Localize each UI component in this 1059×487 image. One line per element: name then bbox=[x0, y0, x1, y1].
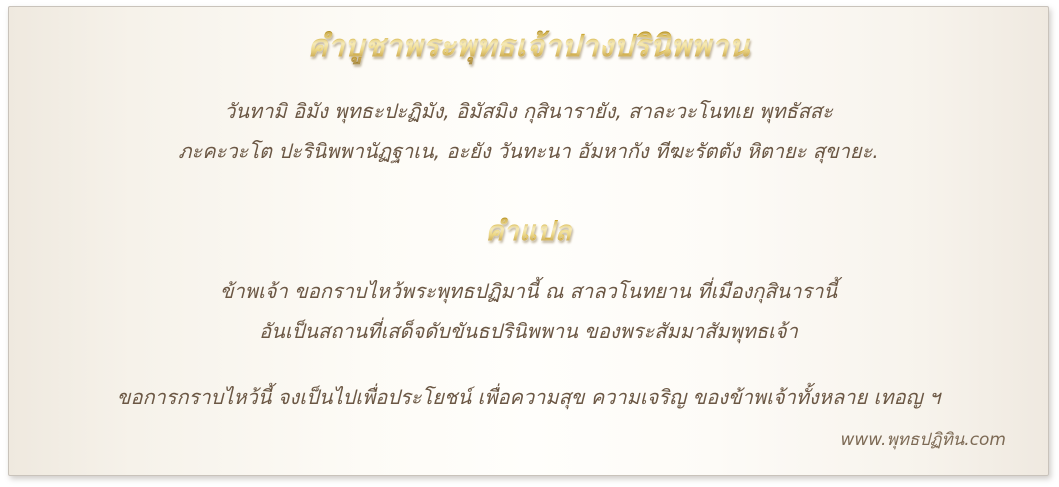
section-title-translation: คำแปล bbox=[9, 213, 1048, 251]
chant-line: วันทามิ อิมัง พุทธะปะฏิมัง, อิมัสมิง กุส… bbox=[9, 96, 1048, 126]
chant-line: ภะคะวะโต ปะรินิพพานัฏฐาเน, อะยัง วันทะนา… bbox=[9, 136, 1048, 166]
page-title: คำบูชาพระพุทธเจ้าปางปรินิพพาน bbox=[9, 27, 1048, 67]
footer-website: www.พุทธปฏิทิน.com bbox=[840, 429, 1006, 451]
prayer-card: คำบูชาพระพุทธเจ้าปางปรินิพพาน วันทามิ อิ… bbox=[8, 6, 1049, 476]
translation-line: ข้าพเจ้า ขอกราบไหว้พระพุทธปฏิมานี้ ณ สาล… bbox=[9, 276, 1048, 306]
translation-line: อันเป็นสถานที่เสด็จดับขันธปรินิพพาน ของพ… bbox=[9, 316, 1048, 346]
card-inner: คำบูชาพระพุทธเจ้าปางปรินิพพาน วันทามิ อิ… bbox=[9, 7, 1048, 475]
translation-line: ขอการกราบไหว้นี้ จงเป็นไปเพื่อประโยชน์ เ… bbox=[9, 382, 1048, 412]
